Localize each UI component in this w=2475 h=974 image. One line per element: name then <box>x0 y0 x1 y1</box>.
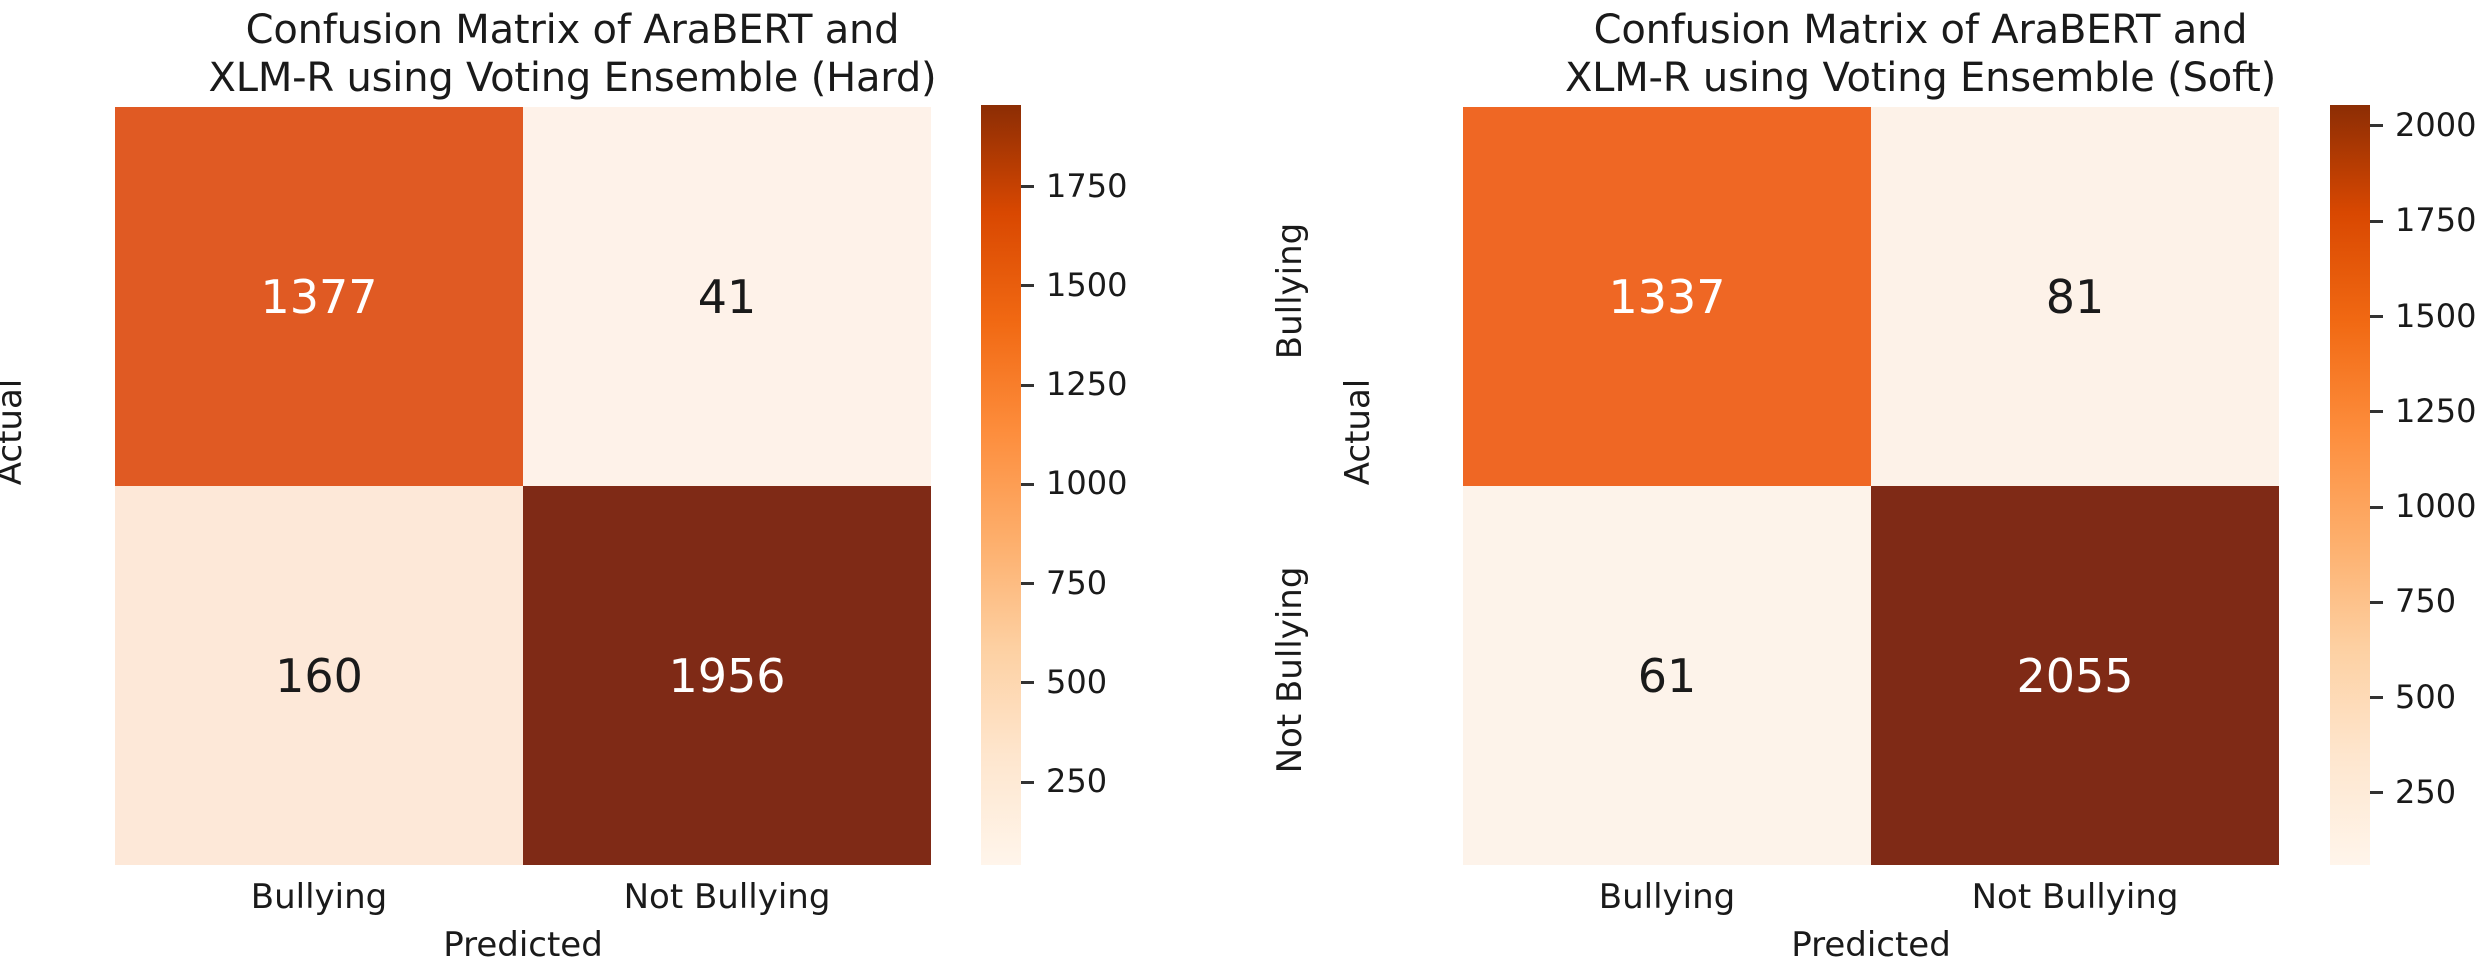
colorbar-tick-mark <box>2370 315 2383 318</box>
x-axis-label: Predicted <box>115 928 931 962</box>
heatmap-cell: 61 <box>1463 486 1871 865</box>
confusion-matrix-figure: Confusion Matrix of AraBERT and XLM-R us… <box>0 0 2475 974</box>
colorbar-tick-mark <box>2370 696 2383 699</box>
colorbar-tick-label: 1000 <box>2395 490 2475 522</box>
colorbar-tick-mark <box>2370 220 2383 223</box>
panel-title-soft: Confusion Matrix of AraBERT and XLM-R us… <box>1463 6 2378 102</box>
colorbar-gradient <box>981 105 1021 865</box>
heatmap-cell: 2055 <box>1871 486 2279 865</box>
colorbar-tick-mark <box>2370 601 2383 604</box>
colorbar-tick-label: 750 <box>2395 585 2456 617</box>
colorbar-tick-label: 1250 <box>2395 395 2475 427</box>
y-tick-label-not-bullying: Not Bullying <box>1273 520 1307 820</box>
panel-soft-voting: Confusion Matrix of AraBERT and XLM-R us… <box>1245 0 2475 974</box>
colorbar-tick-label: 1750 <box>2395 204 2475 236</box>
colorbar-tick-label: 1500 <box>1046 269 1127 301</box>
colorbar-hard: 2505007501000125015001750 <box>981 105 1021 865</box>
heatmap-cell: 81 <box>1871 107 2279 486</box>
colorbar-tick-label: 250 <box>1046 765 1107 797</box>
panel-hard-voting: Confusion Matrix of AraBERT and XLM-R us… <box>0 0 1230 974</box>
colorbar-tick-label: 1000 <box>1046 467 1127 499</box>
heatmap-cell: 1337 <box>1463 107 1871 486</box>
y-axis-label: Actual <box>0 282 27 582</box>
colorbar-tick-mark <box>1021 185 1034 188</box>
colorbar-tick-label: 250 <box>2395 776 2456 808</box>
colorbar-tick-label: 500 <box>2395 681 2456 713</box>
colorbar-tick-mark <box>2370 791 2383 794</box>
heatmap-soft: 1337 81 61 2055 <box>1463 107 2279 865</box>
x-tick-label-bullying: Bullying <box>115 880 523 914</box>
colorbar-gradient <box>2330 105 2370 865</box>
x-tick-label-bullying: Bullying <box>1463 880 1871 914</box>
heatmap-cell: 160 <box>115 486 523 865</box>
x-axis-label: Predicted <box>1463 928 2279 962</box>
colorbar-tick-label: 1250 <box>1046 368 1127 400</box>
colorbar-tick-label: 1750 <box>1046 170 1127 202</box>
colorbar-tick-mark <box>1021 582 1034 585</box>
y-tick-label-bullying: Bullying <box>1273 141 1307 441</box>
colorbar-tick-mark <box>1021 284 1034 287</box>
colorbar-tick-mark <box>1021 483 1034 486</box>
x-tick-label-not-bullying: Not Bullying <box>523 880 931 914</box>
colorbar-tick-label: 500 <box>1046 666 1107 698</box>
colorbar-tick-label: 1500 <box>2395 300 2475 332</box>
colorbar-tick-label: 2000 <box>2395 109 2475 141</box>
colorbar-tick-mark <box>1021 681 1034 684</box>
colorbar-soft: 25050075010001250150017502000 <box>2330 105 2370 865</box>
colorbar-tick-mark <box>2370 506 2383 509</box>
heatmap-cell: 41 <box>523 107 931 486</box>
colorbar-tick-mark <box>2370 124 2383 127</box>
heatmap-hard: 1377 41 160 1956 <box>115 107 931 865</box>
colorbar-tick-mark <box>1021 781 1034 784</box>
y-axis-label: Actual <box>1341 282 1375 582</box>
panel-title-hard: Confusion Matrix of AraBERT and XLM-R us… <box>115 6 1030 102</box>
colorbar-tick-mark <box>1021 384 1034 387</box>
heatmap-cell: 1377 <box>115 107 523 486</box>
colorbar-tick-mark <box>2370 410 2383 413</box>
colorbar-tick-label: 750 <box>1046 567 1107 599</box>
x-tick-label-not-bullying: Not Bullying <box>1871 880 2279 914</box>
heatmap-cell: 1956 <box>523 486 931 865</box>
